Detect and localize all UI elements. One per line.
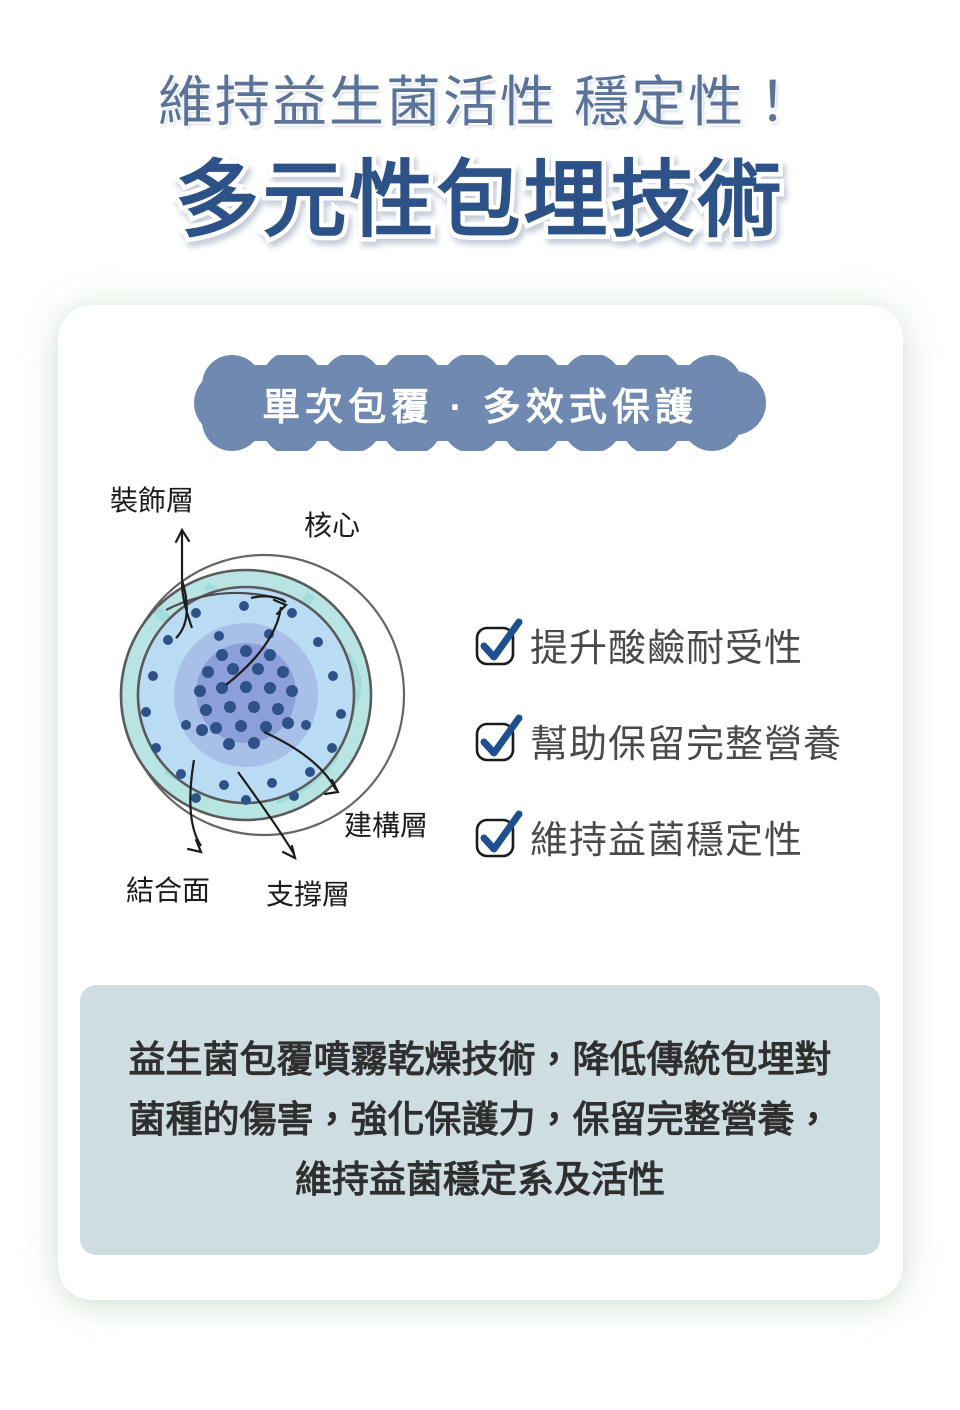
- badge-label: 單次包覆 · 多效式保護: [190, 355, 770, 451]
- label-binding-surface: 結合面: [126, 875, 210, 906]
- list-item: 提升酸鹼耐受性: [474, 596, 894, 692]
- checkbox-check-icon: [474, 717, 520, 763]
- section-badge: 單次包覆 · 多效式保護: [190, 355, 770, 451]
- list-item-label: 幫助保留完整營養: [530, 713, 842, 768]
- encapsulation-diagram: 裝飾層 核心 建構層 結合面 支撐層: [96, 480, 496, 930]
- page-header: 維持益生菌活性 穩定性！ 多元性包埋技術: [0, 0, 960, 300]
- label-support-layer: 支撐層: [266, 879, 350, 910]
- list-item-label: 維持益菌穩定性: [530, 809, 803, 864]
- label-decorative-layer: 裝飾層: [110, 485, 194, 516]
- description-text: 益生菌包覆噴霧乾燥技術，降低傳統包埋對菌種的傷害，強化保護力，保留完整營養，維持…: [115, 1030, 845, 1210]
- label-structural-layer: 建構層: [344, 810, 428, 841]
- list-item-label: 提升酸鹼耐受性: [530, 617, 803, 672]
- description-box: 益生菌包覆噴霧乾燥技術，降低傳統包埋對菌種的傷害，強化保護力，保留完整營養，維持…: [80, 985, 880, 1255]
- page-title: 多元性包埋技術: [0, 158, 960, 242]
- benefits-checklist: 提升酸鹼耐受性 幫助保留完整營養 維持益菌穩定性: [474, 596, 894, 884]
- label-core: 核心: [304, 510, 360, 541]
- list-item: 維持益菌穩定性: [474, 788, 894, 884]
- list-item: 幫助保留完整營養: [474, 692, 894, 788]
- header-subtitle: 維持益生菌活性 穩定性！: [0, 72, 960, 134]
- checkbox-check-icon: [474, 621, 520, 667]
- checkbox-check-icon: [474, 813, 520, 859]
